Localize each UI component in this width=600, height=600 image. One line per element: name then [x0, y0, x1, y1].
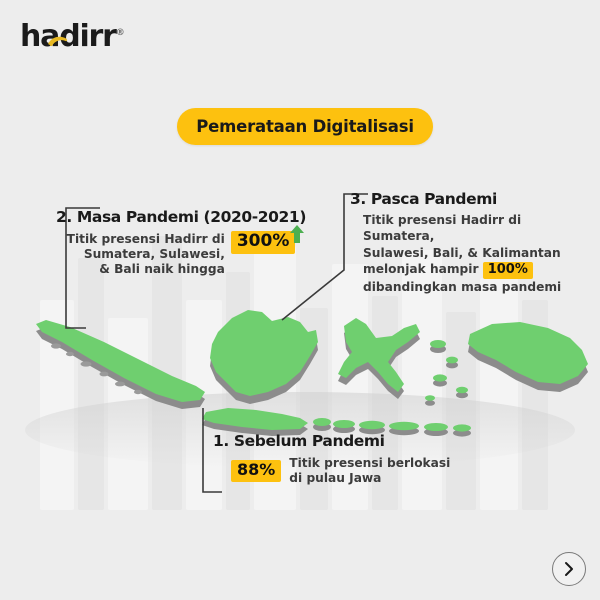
callout-post-pandemic: 3. Pasca Pandemi Titik presensi Hadirr d… [350, 190, 588, 295]
callout-during-pandemic-title: 2. Masa Pandemi (2020-2021) [55, 208, 307, 226]
callout-during-pandemic-body: Titik presensi Hadirr di Sumatera, Sulaw… [55, 231, 307, 277]
callout-during-pandemic-lines: Titik presensi Hadirr di Sumatera, Sulaw… [67, 231, 225, 277]
callout-during-pandemic-line-2: Sumatera, Sulawesi, [67, 247, 225, 262]
callout-post-pandemic-line-1: Titik presensi Hadirr di Sumatera, [363, 212, 588, 245]
island-kalimantan [210, 310, 318, 404]
callout-during-pandemic-line-1: Titik presensi Hadirr di [67, 232, 225, 247]
callout-post-pandemic-line-2: Sulawesi, Bali, & Kalimantan [363, 245, 588, 261]
callout-pre-pandemic-line-1: Titik presensi berlokasi [289, 456, 450, 470]
page-title-pill: Pemerataan Digitalisasi [177, 108, 433, 145]
brand-logo: hadirr® [20, 20, 125, 54]
island-sulawesi [338, 318, 420, 399]
brand-logo-text: hadirr® [20, 22, 125, 52]
callout-during-pandemic-line-3: & Bali naik hingga [67, 262, 225, 277]
callout-post-pandemic-line-4: dibandingkan masa pandemi [363, 279, 588, 295]
arrow-up-green-icon [289, 224, 305, 244]
callout-during-pandemic: 2. Masa Pandemi (2020-2021) Titik presen… [55, 208, 307, 277]
callout-pre-pandemic-line-2: di pulau Jawa [289, 471, 381, 485]
callout-pre-pandemic-title: 1. Sebelum Pandemi [213, 432, 463, 450]
callout-post-pandemic-body: Titik presensi Hadirr di Sumatera, Sulaw… [350, 212, 588, 295]
chevron-right-icon [563, 561, 575, 577]
page-title: Pemerataan Digitalisasi [196, 117, 414, 136]
badge-100-percent: 100% [483, 262, 533, 279]
island-sumatera [36, 320, 205, 409]
badge-88-percent: 88% [231, 460, 281, 482]
infographic-canvas: hadirr® Pemerataan Digitalisasi [0, 0, 600, 600]
next-slide-button[interactable] [552, 552, 586, 586]
brand-logo-wordmark: hadirr [20, 19, 116, 54]
callout-pre-pandemic-lines: Titik presensi berlokasi di pulau Jawa [289, 456, 450, 485]
callout-during-pandemic-badge-wrap: 300% [231, 231, 296, 254]
callout-pre-pandemic: 1. Sebelum Pandemi 88% Titik presensi be… [213, 432, 463, 485]
registered-trademark-icon: ® [116, 28, 125, 38]
callout-post-pandemic-line-3-text: melonjak hampir [363, 262, 478, 276]
island-papua [468, 322, 588, 392]
callout-post-pandemic-line-3: melonjak hampir 100% [363, 261, 588, 279]
callout-post-pandemic-title: 3. Pasca Pandemi [350, 190, 588, 208]
badge-300-percent: 300% [231, 231, 296, 254]
callout-pre-pandemic-body: 88% Titik presensi berlokasi di pulau Ja… [213, 456, 463, 485]
islands-maluku [425, 340, 468, 406]
